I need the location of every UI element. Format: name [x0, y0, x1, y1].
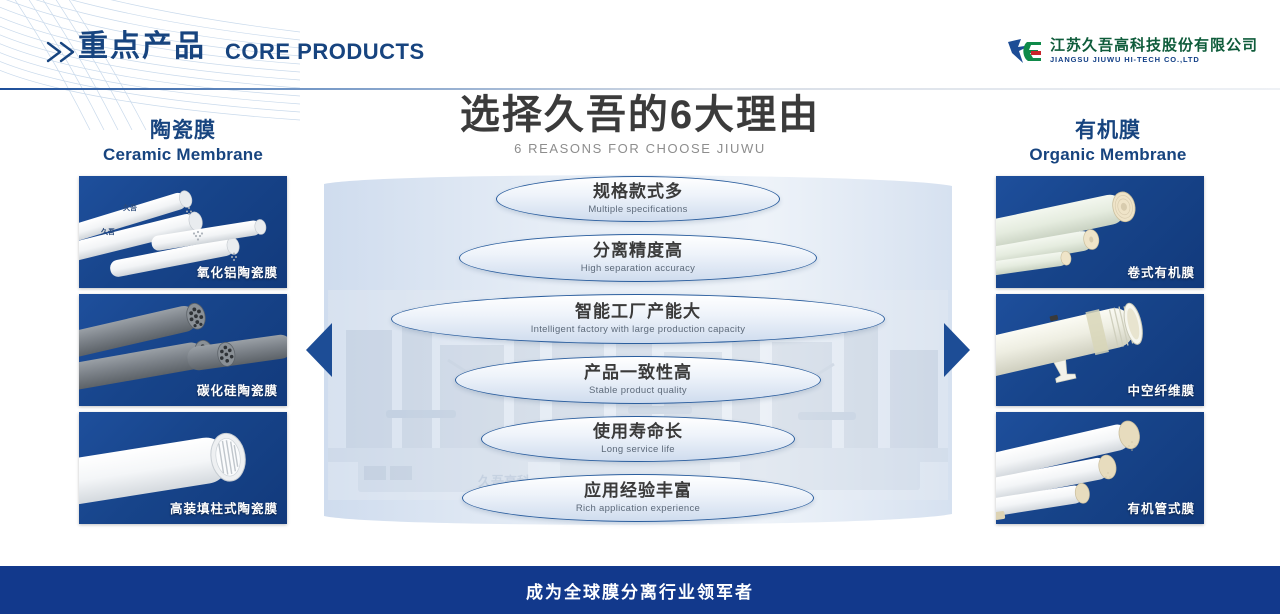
reason-item-4[interactable]: 产品一致性高 Stable product quality	[455, 356, 821, 404]
reason-item-1[interactable]: 规格款式多 Multiple specifications	[496, 176, 780, 222]
triangle-left-icon	[306, 323, 332, 377]
reason-item-3[interactable]: 智能工厂产能大 Intelligent factory with large p…	[391, 294, 885, 344]
product-card-spiral-organic[interactable]: 卷式有机膜	[996, 176, 1204, 288]
reason-item-5[interactable]: 使用寿命长 Long service life	[481, 416, 795, 462]
product-card-caption: 氧化铝陶瓷膜	[197, 262, 278, 281]
reason-label-en: Intelligent factory with large productio…	[531, 324, 746, 335]
left-heading-cn: 陶瓷膜	[53, 118, 313, 143]
slide-header: 重点产品 CORE PRODUCTS 江苏久吾高科技股份有限公司 JIANGSU…	[0, 0, 1280, 92]
reason-label-en: Long service life	[601, 444, 675, 455]
slide-root: 重点产品 CORE PRODUCTS 江苏久吾高科技股份有限公司 JIANGSU…	[0, 0, 1280, 614]
reason-item-2[interactable]: 分离精度高 High separation accuracy	[459, 234, 817, 282]
product-card-column-ceramic[interactable]: 高装填柱式陶瓷膜	[79, 412, 287, 524]
company-logo: 江苏久吾高科技股份有限公司 JIANGSU JIUWU HI-TECH CO.,…	[1007, 36, 1258, 66]
logo-company-en: JIANGSU JIUWU HI-TECH CO.,LTD	[1050, 56, 1258, 64]
right-column-heading: 有机膜 Organic Membrane	[978, 118, 1238, 165]
product-card-silicon-carbide-ceramic[interactable]: 碳化硅陶瓷膜	[79, 294, 287, 406]
svg-text:久吾: 久吾	[122, 203, 137, 212]
svg-text:久吾: 久吾	[100, 227, 115, 236]
footer-slogan: 成为全球膜分离行业领军者	[526, 578, 754, 603]
product-card-caption: 高装填柱式陶瓷膜	[170, 498, 278, 517]
reason-label-en: High separation accuracy	[581, 263, 695, 274]
center-stage: 久吾高科 规格款式多 Multiple specifications 分离精度高…	[318, 170, 958, 530]
triangle-right-icon	[944, 323, 970, 377]
page-title-cn: 重点产品	[78, 32, 206, 62]
jiuwu-logo-mark-icon	[1007, 36, 1043, 66]
right-heading-en: Organic Membrane	[978, 145, 1238, 165]
reason-label-en: Stable product quality	[589, 385, 687, 396]
reason-label-cn: 分离精度高	[593, 242, 683, 261]
product-card-caption: 有机管式膜	[1127, 498, 1195, 517]
reason-item-6[interactable]: 应用经验丰富 Rich application experience	[462, 474, 814, 522]
product-card-hollow-fiber[interactable]: 中空纤维膜	[996, 294, 1204, 406]
header-divider	[0, 88, 1280, 90]
reason-label-en: Multiple specifications	[588, 204, 687, 215]
product-card-alumina-ceramic[interactable]: 久吾 久吾 氧化铝陶瓷膜	[79, 176, 287, 288]
product-card-caption: 卷式有机膜	[1127, 262, 1195, 281]
reason-label-cn: 应用经验丰富	[584, 482, 692, 501]
reason-label-cn: 使用寿命长	[593, 423, 683, 442]
left-heading-en: Ceramic Membrane	[53, 145, 313, 165]
reason-label-cn: 规格款式多	[593, 183, 683, 202]
right-heading-cn: 有机膜	[978, 118, 1238, 143]
logo-company-cn: 江苏久吾高科技股份有限公司	[1050, 38, 1258, 53]
reason-label-cn: 产品一致性高	[584, 364, 692, 383]
reason-label-en: Rich application experience	[576, 503, 700, 514]
page-title-en: CORE PRODUCTS	[225, 41, 425, 63]
reason-label-cn: 智能工厂产能大	[575, 303, 701, 322]
product-card-organic-tubular[interactable]: 有机管式膜	[996, 412, 1204, 524]
footer-bar: 成为全球膜分离行业领军者	[0, 566, 1280, 614]
product-card-caption: 碳化硅陶瓷膜	[197, 380, 278, 399]
left-column-heading: 陶瓷膜 Ceramic Membrane	[53, 118, 313, 165]
product-card-caption: 中空纤维膜	[1127, 380, 1195, 399]
